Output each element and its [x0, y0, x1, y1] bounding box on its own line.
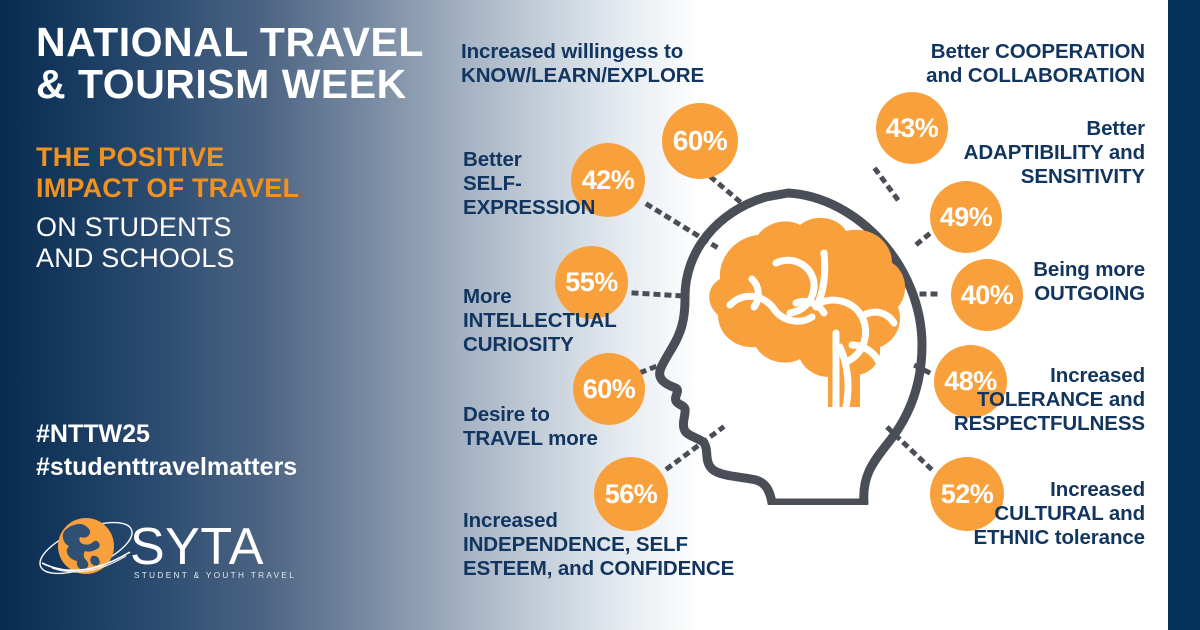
logo-wordmark: SYTA [130, 518, 264, 576]
label-line: Better [463, 148, 595, 172]
label-line: and COLLABORATION [926, 64, 1145, 88]
label-line: SELF- [463, 172, 595, 196]
hashtag-nttw25: #NTTW25 [36, 418, 297, 451]
label-line: ADAPTIBILITY and [964, 141, 1145, 165]
stat-label-intellectual-curiosity: More INTELLECTUAL CURIOSITY [463, 285, 617, 356]
label-line: RESPECTFULNESS [954, 412, 1145, 436]
label-line: CULTURAL and [973, 502, 1145, 526]
stat-label-cooperation: Better COOPERATION and COLLABORATION [926, 40, 1145, 88]
label-line: TRAVEL more [463, 427, 598, 451]
label-line: OUTGOING [1033, 282, 1145, 306]
label-line: Increased [463, 509, 734, 533]
stat-label-adaptibility: Better ADAPTIBILITY and SENSITIVITY [964, 117, 1145, 188]
label-line: KNOW/LEARN/EXPLORE [461, 64, 704, 88]
label-line: TOLERANCE and [954, 388, 1145, 412]
stat-percent-outgoing: 40% [961, 280, 1014, 311]
hashtag-studenttravelmatters: #studenttravelmatters [36, 451, 297, 484]
stat-label-know-learn-explore: Increased willingess to KNOW/LEARN/EXPLO… [461, 40, 704, 88]
syta-logo: SYTA STUDENT & YOUTH TRAVEL ASSOCIATION [34, 508, 294, 588]
stat-percent-independence: 56% [605, 479, 658, 510]
label-line: INDEPENDENCE, SELF [463, 533, 734, 557]
stat-label-desire-to-travel: Desire to TRAVEL more [463, 403, 598, 451]
subtitle-white-line-2: AND SCHOOLS [36, 243, 456, 274]
label-line: SENSITIVITY [964, 165, 1145, 189]
logo-tagline: STUDENT & YOUTH TRAVEL ASSOCIATION [134, 571, 294, 580]
subtitle-white-line-1: ON STUDENTS [36, 212, 456, 243]
stat-label-outgoing: Being more OUTGOING [1033, 258, 1145, 306]
right-navy-bar [1168, 0, 1200, 630]
label-line: ETHNIC tolerance [973, 526, 1145, 550]
subtitle-orange-line-1: THE POSITIVE [36, 142, 456, 173]
stat-label-tolerance: Increased TOLERANCE and RESPECTFULNESS [954, 364, 1145, 435]
label-line: EXPRESSION [463, 196, 595, 220]
stat-bubble-adaptibility[interactable]: 49% [930, 181, 1002, 253]
label-line: Increased [954, 364, 1145, 388]
label-line: More [463, 285, 617, 309]
label-line: Desire to [463, 403, 598, 427]
hashtag-block: #NTTW25 #studenttravelmatters [36, 418, 297, 484]
head-brain-illustration [648, 175, 968, 505]
label-line: CURIOSITY [463, 333, 617, 357]
stat-percent-cooperation: 43% [886, 113, 939, 144]
stat-percent-adaptibility: 49% [940, 202, 993, 233]
stat-label-cultural-ethnic: Increased CULTURAL and ETHNIC tolerance [973, 478, 1145, 549]
stat-label-self-expression: Better SELF- EXPRESSION [463, 148, 595, 219]
stat-bubble-outgoing[interactable]: 40% [951, 259, 1023, 331]
stat-bubble-cooperation[interactable]: 43% [876, 92, 948, 164]
subtitle-orange-line-2: IMPACT OF TRAVEL [36, 173, 456, 204]
stat-bubble-know-learn-explore[interactable]: 60% [662, 103, 738, 179]
label-line: Better [964, 117, 1145, 141]
label-line: Better COOPERATION [926, 40, 1145, 64]
label-line: INTELLECTUAL [463, 309, 617, 333]
label-line: Increased willingess to [461, 40, 704, 64]
title-line-2: & TOURISM WEEK [36, 64, 466, 106]
subtitle-block: THE POSITIVE IMPACT OF TRAVEL ON STUDENT… [36, 142, 456, 274]
stat-percent-desire-to-travel: 60% [583, 374, 636, 405]
infographic-canvas: NATIONAL TRAVEL & TOURISM WEEK THE POSIT… [0, 0, 1200, 630]
title-line-1: NATIONAL TRAVEL [36, 22, 466, 64]
stat-percent-know-learn-explore: 60% [673, 125, 728, 157]
label-line: ESTEEM, and CONFIDENCE [463, 557, 734, 581]
page-title: NATIONAL TRAVEL & TOURISM WEEK [36, 22, 466, 106]
label-line: Being more [1033, 258, 1145, 282]
label-line: Increased [973, 478, 1145, 502]
stat-label-independence: Increased INDEPENDENCE, SELF ESTEEM, and… [463, 509, 734, 580]
